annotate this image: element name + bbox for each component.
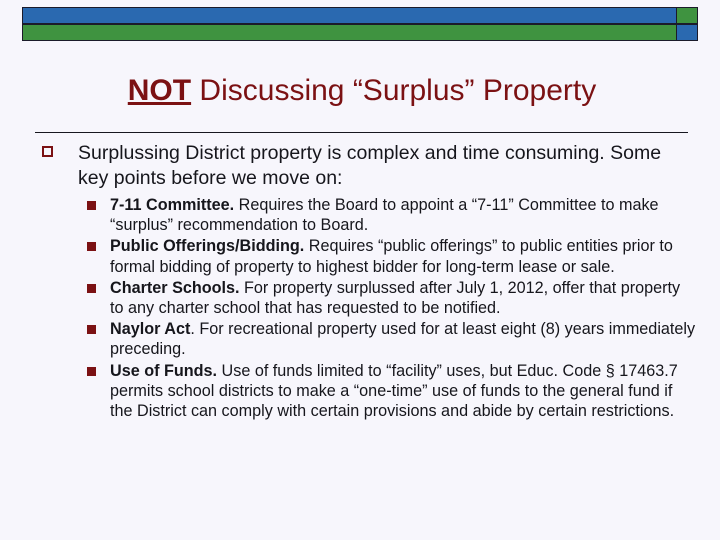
page-title-rest: Discussing “Surplus” Property <box>191 74 596 107</box>
header-bar-bottom-blue-segment <box>676 25 697 40</box>
list-item-text: . For recreational property used for at … <box>110 320 695 358</box>
page-title-emphasis: NOT <box>128 74 191 107</box>
list-item-lead: 7-11 Committee. <box>110 196 234 214</box>
filled-square-bullet-icon <box>87 367 96 376</box>
list-item: Surplussing District property is complex… <box>36 141 696 191</box>
list-item-lead: Charter Schools. <box>110 279 240 297</box>
filled-square-bullet-icon <box>87 325 96 334</box>
filled-square-bullet-icon <box>87 242 96 251</box>
header-bar-bottom <box>22 24 698 41</box>
slide-canvas: NOT Discussing “Surplus” Property Surplu… <box>0 0 720 540</box>
sub-bullet-list: 7-11 Committee. Requires the Board to ap… <box>36 195 696 421</box>
page-title: NOT Discussing “Surplus” Property <box>36 74 688 108</box>
list-item-lead: Naylor Act <box>110 320 190 338</box>
slide-body: Surplussing District property is complex… <box>36 141 696 422</box>
list-item-lead: Use of Funds. <box>110 362 217 380</box>
header-bar-top <box>22 7 698 24</box>
list-item-lead: Public Offerings/Bidding. <box>110 237 304 255</box>
list-item: Public Offerings/Bidding. Requires “publ… <box>36 236 696 276</box>
list-item-text: Surplussing District property is complex… <box>78 142 661 189</box>
header-bar-top-green-segment <box>676 8 697 23</box>
filled-square-bullet-icon <box>87 284 96 293</box>
header-bar-top-blue-segment <box>23 8 676 23</box>
list-item: Charter Schools. For property surplussed… <box>36 278 696 318</box>
title-divider <box>35 132 688 133</box>
hollow-square-bullet-icon <box>42 146 53 157</box>
list-item: 7-11 Committee. Requires the Board to ap… <box>36 195 696 235</box>
header-decoration-bars <box>22 7 698 41</box>
list-item: Use of Funds. Use of funds limited to “f… <box>36 361 696 422</box>
list-item: Naylor Act. For recreational property us… <box>36 319 696 359</box>
header-bar-bottom-green-segment <box>23 25 676 40</box>
filled-square-bullet-icon <box>87 201 96 210</box>
